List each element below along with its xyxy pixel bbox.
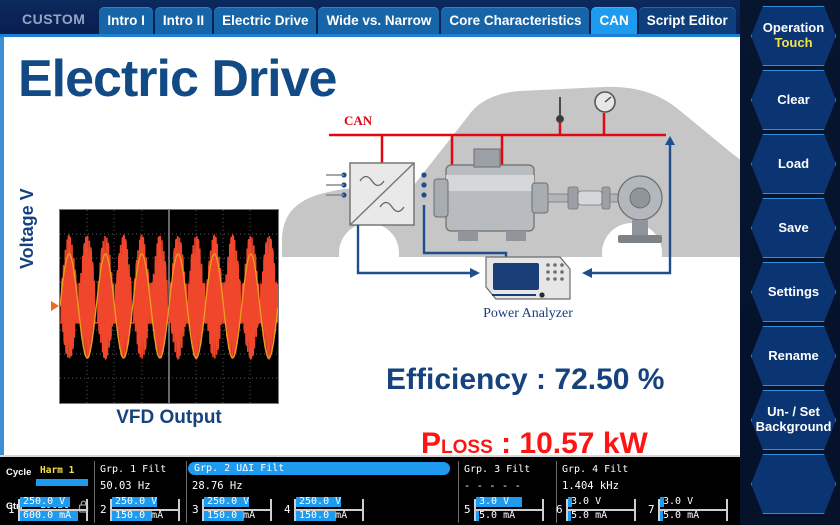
current-value: 150.0 mA: [299, 510, 347, 521]
softkey-empty-7[interactable]: [751, 454, 836, 514]
voltage-value: 250.0 V: [207, 496, 249, 507]
group-4-title[interactable]: Grp. 4 Filt: [562, 464, 628, 475]
channel-number: 6: [556, 503, 563, 516]
tab-script-editor[interactable]: Script Editor: [639, 7, 736, 34]
cycle-bar: [36, 479, 88, 486]
channel-meter[interactable]: 1250.0 V600.0 mA: [8, 497, 92, 523]
voltage-value: 250.0 V: [23, 496, 65, 507]
ploss-separator: :: [493, 427, 520, 455]
softkey-load[interactable]: Load: [751, 134, 836, 194]
efficiency-label: Efficiency :: [386, 363, 554, 396]
tab-bar: CUSTOM Intro IIntro IIElectric DriveWide…: [0, 0, 740, 34]
status-divider: [94, 461, 95, 523]
tab-wide-vs-narrow[interactable]: Wide vs. Narrow: [318, 7, 439, 34]
softkey-panel: OperationTouchClearLoadSaveSettingsRenam…: [740, 0, 840, 525]
group-4-frequency: 1.404 kHz: [562, 480, 619, 492]
trigger-marker: [51, 301, 59, 311]
current-value: 5.0 mA: [571, 510, 607, 521]
scale-right-bracket: [270, 499, 272, 521]
softkey-label: Operation: [763, 21, 824, 36]
softkey-settings[interactable]: Settings: [751, 262, 836, 322]
current-value: 600.0 mA: [23, 510, 71, 521]
softkey-label: Save: [778, 221, 808, 236]
ploss-subscript: LOSS: [441, 437, 493, 455]
channel-meter[interactable]: 3250.0 V150.0 mA: [192, 497, 276, 523]
softkey-operation[interactable]: OperationTouch: [751, 6, 836, 66]
current-value: 150.0 mA: [207, 510, 255, 521]
channel-number: 1: [8, 503, 15, 516]
tab-intro-i[interactable]: Intro I: [99, 7, 153, 34]
voltage-value: 250.0 V: [299, 496, 341, 507]
channel-number: 4: [284, 503, 291, 516]
scale-right-bracket: [634, 499, 636, 521]
ploss-value: 10.57 kW: [519, 427, 647, 455]
channel-number: 2: [100, 503, 107, 516]
softkey-sublabel: Background: [756, 420, 832, 435]
tab-can[interactable]: CAN: [591, 7, 636, 34]
softkey-rename[interactable]: Rename: [751, 326, 836, 386]
softkey-un-set[interactable]: Un- / SetBackground: [751, 390, 836, 450]
softkey-shape: [751, 454, 836, 514]
cycle-value[interactable]: Harm 1: [40, 465, 74, 476]
scope-display: [59, 209, 279, 404]
group-1-title[interactable]: Grp. 1 Filt: [100, 464, 166, 475]
efficiency-value: 72.50 %: [554, 363, 664, 396]
status-bar: Cycle Harm 1 Ctrl Local Grp. 1 Filt50.03…: [0, 455, 740, 525]
tab-core-characteristics[interactable]: Core Characteristics: [441, 7, 589, 34]
softkey-label: Clear: [777, 93, 810, 108]
scale-right-bracket: [362, 499, 364, 521]
softkey-label: Rename: [768, 349, 819, 364]
power-loss-readout: PLOSS : 10.57 kW: [421, 427, 648, 455]
scope-y-axis-label: Voltage V: [17, 188, 38, 269]
scope-caption: VFD Output: [59, 407, 279, 429]
power-analyzer-label: Power Analyzer: [483, 306, 573, 321]
channel-meter[interactable]: 2250.0 V150.0 mA: [100, 497, 184, 523]
current-value: 150.0 mA: [115, 510, 163, 521]
efficiency-readout: Efficiency : 72.50 %: [386, 363, 664, 397]
group-3-title[interactable]: Grp. 3 Filt: [464, 464, 530, 475]
tab-intro-ii[interactable]: Intro II: [155, 7, 212, 34]
can-label: CAN: [344, 113, 373, 128]
current-value: 5.0 mA: [479, 510, 515, 521]
channel-meter[interactable]: 53.0 V5.0 mA: [464, 497, 548, 523]
waveform-plot: [60, 210, 278, 403]
ploss-symbol: P: [421, 427, 441, 455]
channel-number: 5: [464, 503, 471, 516]
group-1-frequency: 50.03 Hz: [100, 480, 151, 492]
custom-label: CUSTOM: [0, 12, 99, 34]
scale-right-bracket: [86, 499, 88, 521]
current-value: 5.0 mA: [663, 510, 699, 521]
main-content-panel: Electric Drive CAN: [0, 37, 740, 455]
voltage-value: 3.0 V: [663, 496, 693, 507]
softkey-label: Settings: [768, 285, 819, 300]
scale-right-bracket: [542, 499, 544, 521]
softkey-sublabel: Touch: [774, 36, 812, 51]
tab-electric-drive[interactable]: Electric Drive: [214, 7, 316, 34]
channel-meter[interactable]: 4250.0 V150.0 mA: [284, 497, 368, 523]
softkey-save[interactable]: Save: [751, 198, 836, 258]
voltage-value: 250.0 V: [115, 496, 157, 507]
scale-right-bracket: [178, 499, 180, 521]
electric-drive-diagram: CAN: [274, 57, 740, 327]
application-window: CUSTOM Intro IIntro IIElectric DriveWide…: [0, 0, 840, 525]
voltage-value: 3.0 V: [571, 496, 601, 507]
scale-right-bracket: [726, 499, 728, 521]
scope-widget: Voltage V: [49, 209, 279, 434]
group-3-frequency: - - - - -: [464, 480, 521, 492]
channel-meter[interactable]: 63.0 V5.0 mA: [556, 497, 640, 523]
status-divider: [458, 461, 459, 523]
voltage-value: 3.0 V: [479, 496, 509, 507]
group-2-frequency: 28.76 Hz: [192, 480, 243, 492]
group-2-title[interactable]: Grp. 2 UΔI Filt: [188, 462, 450, 475]
cycle-label: Cycle: [6, 467, 31, 478]
softkey-label: Un- / Set: [767, 405, 820, 420]
softkey-label: Load: [778, 157, 809, 172]
channel-number: 3: [192, 503, 199, 516]
channel-number: 7: [648, 503, 655, 516]
softkey-clear[interactable]: Clear: [751, 70, 836, 130]
status-divider: [186, 461, 187, 523]
channel-meter[interactable]: 73.0 V5.0 mA: [648, 497, 732, 523]
